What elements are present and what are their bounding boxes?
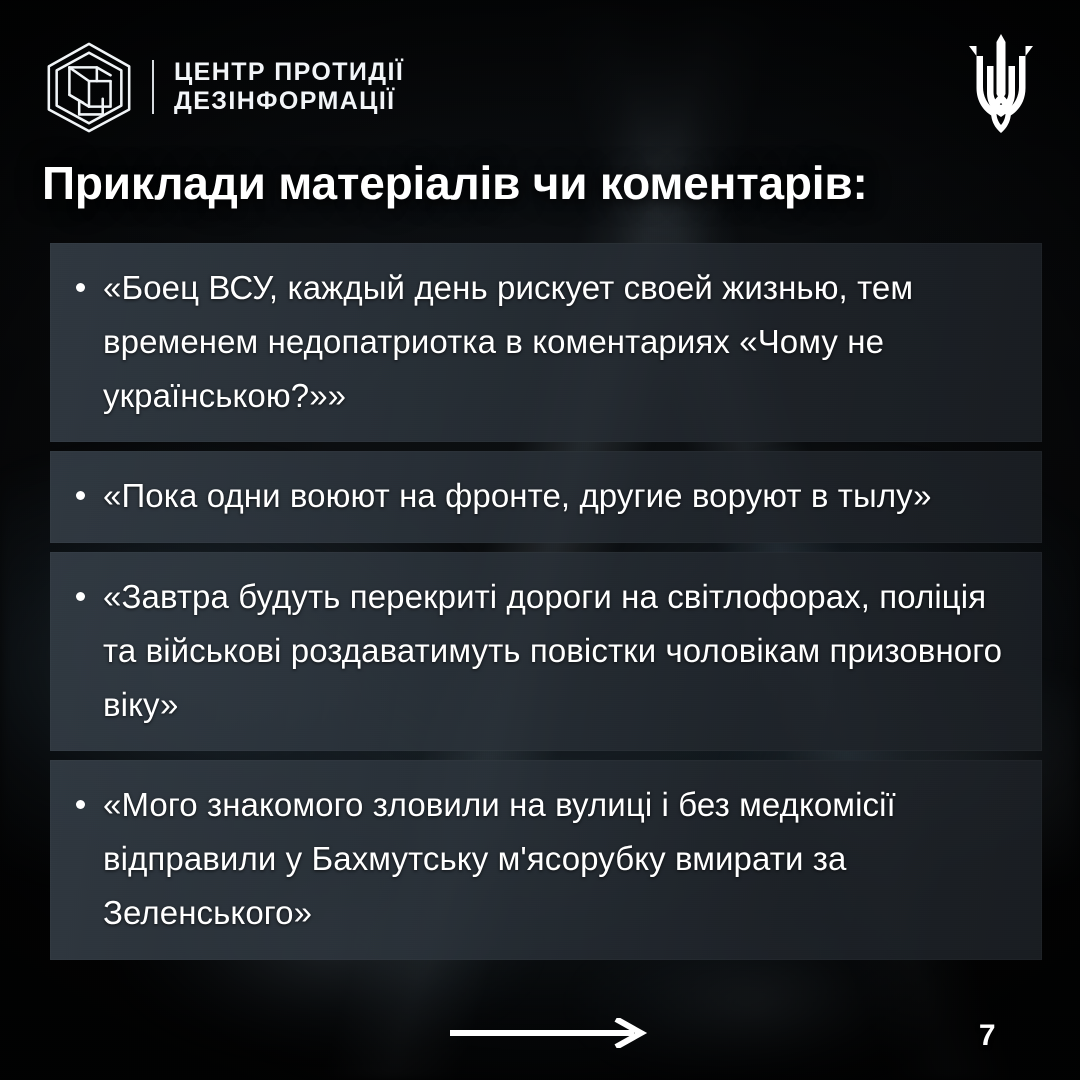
quote-text: «Пока одни воюют на фронте, другие ворую…: [103, 469, 932, 523]
quote-card: «Боец ВСУ, каждый день рискует своей жиз…: [50, 243, 1042, 442]
brand-lockup: ЦЕНТР ПРОТИДІЇ ДЕЗІНФОРМАЦІЇ: [40, 38, 404, 136]
quote-card-list: «Боец ВСУ, каждый день рискует своей жиз…: [50, 243, 1042, 969]
ukrainian-tryzub-icon: [964, 32, 1038, 136]
quote-card: «Завтра будуть перекриті дороги на світл…: [50, 552, 1042, 751]
bullet-icon: [76, 800, 85, 809]
brand-name: ЦЕНТР ПРОТИДІЇ ДЕЗІНФОРМАЦІЇ: [174, 58, 404, 117]
quote-card: «Мого знакомого зловили на вулиці і без …: [50, 760, 1042, 959]
header: ЦЕНТР ПРОТИДІЇ ДЕЗІНФОРМАЦІЇ: [0, 0, 1080, 150]
quote-text: «Боец ВСУ, каждый день рискует своей жиз…: [103, 261, 1016, 422]
impossible-cube-logo-icon: [40, 38, 138, 136]
page-number: 7: [979, 1019, 996, 1053]
bullet-icon: [76, 283, 85, 292]
quote-text: «Мого знакомого зловили на вулиці і без …: [103, 778, 1016, 939]
arrow-right-icon[interactable]: [448, 1018, 648, 1048]
footer: 7: [0, 990, 1080, 1080]
brand-divider: [152, 60, 154, 114]
bullet-icon: [76, 491, 85, 500]
quote-text: «Завтра будуть перекриті дороги на світл…: [103, 570, 1016, 731]
slide-root: ЦЕНТР ПРОТИДІЇ ДЕЗІНФОРМАЦІЇ Приклади ма…: [0, 0, 1080, 1080]
brand-name-line-1: ЦЕНТР ПРОТИДІЇ: [174, 58, 404, 87]
page-title: Приклади матеріалів чи коментарів:: [42, 156, 868, 210]
quote-card: «Пока одни воюют на фронте, другие ворую…: [50, 451, 1042, 543]
brand-name-line-2: ДЕЗІНФОРМАЦІЇ: [174, 87, 404, 116]
bullet-icon: [76, 592, 85, 601]
